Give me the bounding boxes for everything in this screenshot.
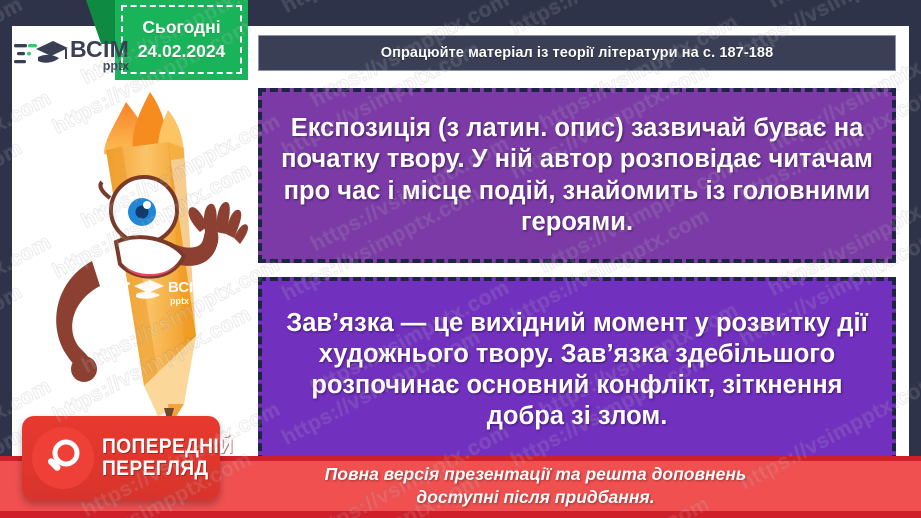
logo-name: ВСІМ xyxy=(70,38,129,61)
magnifier-icon xyxy=(32,427,94,489)
date-badge-label: Сьогодні xyxy=(142,17,220,39)
pencil-mascot: ВСІМ pptx xyxy=(18,86,256,426)
brand-logo: ВСІМ pptx xyxy=(14,32,142,78)
graduation-cap-icon xyxy=(14,35,68,75)
task-banner: Опрацюйте матеріал із теорії літератури … xyxy=(258,35,896,71)
definition-box-plot-start: Зав’язка — це вихідний момент у розвитку… xyxy=(258,277,896,463)
preview-badge-line-2: ПЕРЕГЛЯД xyxy=(102,458,233,480)
definition-text: Експозиція (з латин. опис) зазвичай бува… xyxy=(274,113,880,237)
footer-line-1: Повна версія презентації та решта доповн… xyxy=(325,464,747,484)
preview-badge-label: ПОПЕРЕДНІЙ ПЕРЕГЛЯД xyxy=(102,436,233,479)
date-badge-value: 24.02.2024 xyxy=(138,41,226,63)
slide-root: ВСІМ pptx Сьогодні 24.02.2024 Опрацюйте … xyxy=(0,0,921,518)
footer-text: Повна версія презентації та решта доповн… xyxy=(175,463,747,509)
preview-badge-line-1: ПОПЕРЕДНІЙ xyxy=(102,436,233,458)
definition-text: Зав’язка — це вихідний момент у розвитку… xyxy=(274,308,880,432)
svg-text:ВСІМ: ВСІМ xyxy=(168,279,206,296)
definition-box-exposition: Експозиція (з латин. опис) зазвичай бува… xyxy=(258,88,896,263)
svg-text:pptx: pptx xyxy=(170,296,189,306)
preview-badge[interactable]: ПОПЕРЕДНІЙ ПЕРЕГЛЯД xyxy=(22,416,220,500)
task-banner-text: Опрацюйте матеріал із теорії літератури … xyxy=(381,45,774,61)
mascot-left-arm xyxy=(56,261,100,371)
footer-line-2: доступні після придбання. xyxy=(416,487,654,507)
